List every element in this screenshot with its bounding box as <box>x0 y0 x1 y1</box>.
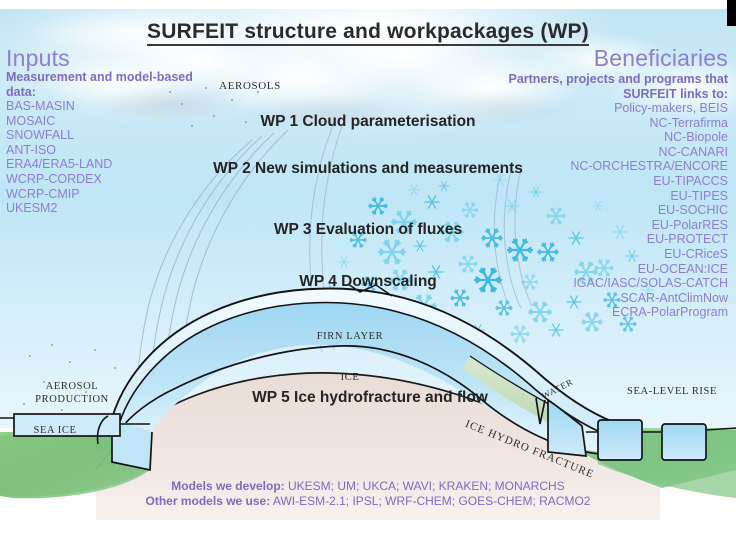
models-develop-list: UKESM; UM; UKCA; WAVI; KRAKEN; MONARCHS <box>285 479 565 493</box>
beneficiaries-heading: Beneficiaries <box>594 45 728 72</box>
aerosol-production-label: AEROSOL PRODUCTION <box>12 380 132 406</box>
firn-layer-label: FIRN LAYER <box>280 330 420 343</box>
snowflake-icon <box>338 257 350 267</box>
beneficiary-item: ECRA-PolarProgram <box>448 305 728 320</box>
models-we-develop: Models we develop: UKESM; UM; UKCA; WAVI… <box>0 479 736 494</box>
input-item: UKESM2 <box>6 201 226 216</box>
beneficiaries-subheading: Partners, projects and programs that SUR… <box>478 72 728 101</box>
models-other-label: Other models we use: <box>146 494 271 508</box>
sea-ice-label: SEA ICE <box>16 424 94 437</box>
iceberg-1[interactable] <box>598 420 642 460</box>
ice-label: ICE <box>320 371 380 384</box>
snowflake-icon <box>414 241 426 251</box>
workpackage-4-label: WP 4 Downscaling <box>168 272 568 291</box>
snowflake-icon <box>369 198 387 214</box>
input-item: ANT-ISO <box>6 143 226 158</box>
diagram-canvas: SURFEIT structure and workpackages (WP) … <box>0 0 736 538</box>
snowflake-icon <box>425 196 439 208</box>
models-develop-label: Models we develop: <box>171 479 284 493</box>
workpackage-5-label: WP 5 Ice hydrofracture and flow <box>150 388 590 407</box>
beneficiary-item: EU-SOCHIC <box>448 203 728 218</box>
models-other-list: AWI-ESM-2.1; IPSL; WRF-CHEM; GOES-CHEM; … <box>270 494 590 508</box>
models-we-use: Other models we use: AWI-ESM-2.1; IPSL; … <box>0 494 736 509</box>
workpackage-3-label: WP 3 Evaluation of fluxes <box>168 220 568 239</box>
beneficiary-item: NC-CANARI <box>448 145 728 160</box>
workpackage-2-label: WP 2 New simulations and measurements <box>188 159 548 178</box>
aerosols-label: AEROSOLS <box>190 80 310 93</box>
snowflake-icon <box>408 185 420 195</box>
input-item: WCRP-CMIP <box>6 187 226 202</box>
beneficiary-item: NC-Biopole <box>448 130 728 145</box>
snowflake-icon <box>511 326 529 342</box>
beneficiary-item: SCAR-AntClimNow <box>448 291 728 306</box>
workpackage-1-label: WP 1 Cloud parameterisation <box>168 112 568 131</box>
inputs-subheading: Measurement and model-based data: <box>6 70 206 99</box>
inputs-heading: Inputs <box>6 45 70 72</box>
sea-level-rise-label: SEA-LEVEL RISE <box>622 385 722 398</box>
page-title: SURFEIT structure and workpackages (WP) <box>0 20 736 44</box>
iceberg-2[interactable] <box>662 424 706 460</box>
snowflake-icon <box>549 324 563 336</box>
snowflake-icon <box>379 241 405 264</box>
beneficiary-item: EU-TIPES <box>448 189 728 204</box>
beneficiary-item: EU-CRiceS <box>448 247 728 262</box>
